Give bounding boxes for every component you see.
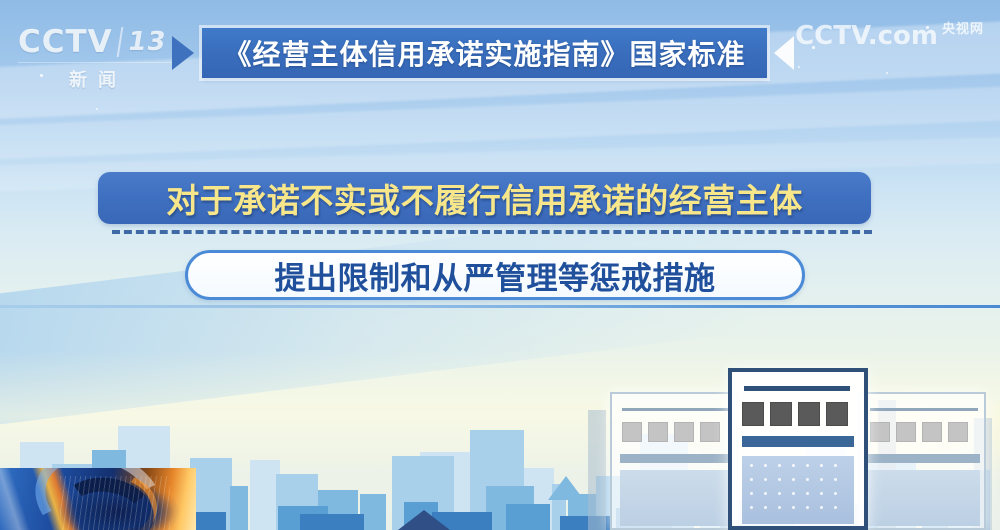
sparkle-dot xyxy=(812,46,815,49)
sparkle-dot xyxy=(40,74,43,77)
broadcast-swirl-graphic xyxy=(0,468,196,530)
headline-line-2-text: 提出限制和从严管理等惩戒措施 xyxy=(275,253,716,298)
triangle-right-icon xyxy=(172,36,194,70)
building-card-right xyxy=(858,392,986,530)
sparkle-dot xyxy=(96,108,98,110)
government-building-cards-illustration xyxy=(610,368,990,530)
building-card-center xyxy=(728,368,868,530)
headline-line-1: 对于承诺不实或不履行信用承诺的经营主体 xyxy=(98,172,871,224)
headline-line-1-text: 对于承诺不实或不履行信用承诺的经营主体 xyxy=(166,174,803,222)
topic-title-text: 《经营主体信用承诺实施指南》国家标准 xyxy=(223,33,745,73)
sparkle-dot xyxy=(886,72,888,74)
triangle-left-icon xyxy=(774,36,794,70)
building-card-left xyxy=(610,392,738,530)
topic-title-bar: 《经营主体信用承诺实施指南》国家标准 xyxy=(202,28,767,78)
dashed-divider xyxy=(112,230,872,234)
broadcast-frame: CCTV 13 新闻 《经营主体信用承诺实施指南》国家标准 CCTV.com 央… xyxy=(0,0,1000,530)
sparkle-dot xyxy=(926,26,929,29)
headline-line-2: 提出限制和从严管理等惩戒措施 xyxy=(185,250,805,300)
sparkle-dot xyxy=(798,66,800,68)
